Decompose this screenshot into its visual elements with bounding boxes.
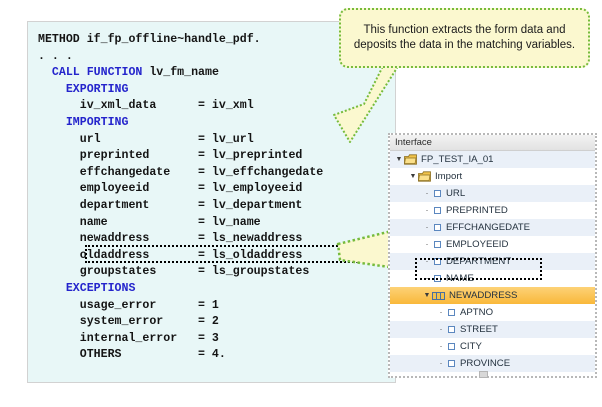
code-line: newaddress = ls_newaddress: [38, 231, 323, 248]
bullet-icon: ·: [436, 325, 446, 334]
field-icon: [434, 207, 441, 214]
tree-body[interactable]: ▼FP_TEST_IA_01▼Import·URL·PREPRINTED·EFF…: [390, 151, 595, 378]
code-line: . . .: [38, 380, 323, 383]
code-keyword: EXCEPTIONS: [38, 282, 135, 295]
tree-node-url[interactable]: ·URL: [390, 185, 595, 202]
tree-node-label: APTNO: [460, 307, 493, 318]
code-text: oldaddress = ls_oldaddress: [38, 249, 302, 262]
code-text: internal_error = 3: [38, 332, 219, 345]
tree-node-street[interactable]: ·STREET: [390, 321, 595, 338]
tree-node-label: CITY: [460, 341, 482, 352]
bullet-icon: ·: [436, 342, 446, 351]
interface-tree-panel[interactable]: Interface ▼FP_TEST_IA_01▼Import·URL·PREP…: [388, 133, 597, 378]
tree-node-city[interactable]: ·CITY: [390, 338, 595, 355]
tree-node-newaddress[interactable]: ▼NEWADDRESS: [390, 287, 595, 304]
bullet-icon: ·: [422, 274, 432, 283]
code-line: . . .: [38, 49, 323, 66]
code-line: system_error = 2: [38, 314, 323, 331]
code-keyword: CALL FUNCTION: [38, 66, 149, 79]
code-text: system_error = 2: [38, 315, 219, 328]
bullet-icon: ·: [422, 206, 432, 215]
code-line: [38, 364, 323, 381]
folder-icon: [418, 171, 431, 182]
code-keyword: IMPORTING: [38, 116, 128, 129]
code-text: OTHERS = 4.: [38, 348, 226, 361]
code-line: OTHERS = 4.: [38, 347, 323, 364]
field-icon: [434, 258, 441, 265]
bullet-icon: ·: [436, 308, 446, 317]
code-text: url = lv_url: [38, 133, 254, 146]
code-text: preprinted = lv_preprinted: [38, 149, 302, 162]
code-line: METHOD if_fp_offline~handle_pdf.: [38, 32, 323, 49]
code-line: CALL FUNCTION lv_fm_name: [38, 65, 323, 82]
code-line: iv_xml_data = iv_xml: [38, 98, 323, 115]
bullet-icon: ·: [436, 376, 446, 378]
tree-node-name[interactable]: ·NAME: [390, 270, 595, 287]
field-icon: [448, 360, 455, 367]
tree-node-label: URL: [446, 188, 465, 199]
code-text: department = lv_department: [38, 199, 302, 212]
code-text: METHOD if_fp_offline~handle_pdf.: [38, 33, 261, 46]
code-line: usage_error = 1: [38, 298, 323, 315]
tree-header-label: Interface: [390, 135, 595, 151]
folder-icon: [404, 154, 417, 165]
tree-node-import[interactable]: ▼Import: [390, 168, 595, 185]
code-line: employeeid = lv_employeeid: [38, 181, 323, 198]
tree-node-label: Import: [435, 171, 462, 182]
bullet-icon: ·: [422, 189, 432, 198]
code-text: lv_fm_name: [149, 66, 219, 79]
bullet-icon: ·: [422, 240, 432, 249]
code-line: effchangedate = lv_effchangedate: [38, 165, 323, 182]
tree-node-employeeid[interactable]: ·EMPLOYEEID: [390, 236, 595, 253]
code-text: iv_xml_data = iv_xml: [38, 99, 254, 112]
code-text: newaddress = ls_newaddress: [38, 232, 302, 245]
tree-node-label: FP_TEST_IA_01: [421, 154, 494, 165]
tree-node-aptno[interactable]: ·APTNO: [390, 304, 595, 321]
field-icon: [434, 241, 441, 248]
code-line: internal_error = 3: [38, 331, 323, 348]
tree-node-label: NEWADDRESS: [449, 290, 517, 301]
bullet-icon: ·: [422, 223, 432, 232]
code-text: . . .: [38, 50, 73, 63]
field-icon: [448, 309, 455, 316]
tree-node-label: PREPRINTED: [446, 205, 508, 216]
tree-node-label: EFFCHANGEDATE: [446, 222, 530, 233]
code-text: . . .: [38, 381, 73, 383]
field-icon: [434, 190, 441, 197]
code-line: preprinted = lv_preprinted: [38, 148, 323, 165]
field-icon: [448, 326, 455, 333]
code-line: EXPORTING: [38, 82, 323, 99]
tree-scrollbar-nub[interactable]: [479, 371, 488, 378]
callout-text: This function extracts the form data and…: [341, 23, 588, 54]
tree-node-department[interactable]: ·DEPARTMENT: [390, 253, 595, 270]
code-line: name = lv_name: [38, 215, 323, 232]
bullet-icon: ·: [436, 359, 446, 368]
field-icon: [448, 343, 455, 350]
field-icon: [434, 224, 441, 231]
structure-icon: [432, 292, 445, 300]
code-line: EXCEPTIONS: [38, 281, 323, 298]
tree-node-label: NAME: [446, 273, 474, 284]
tree-node-label: PROVINCE: [460, 358, 510, 369]
code-text: effchangedate = lv_effchangedate: [38, 166, 323, 179]
callout-bubble: This function extracts the form data and…: [339, 8, 590, 68]
code-text: groupstates = ls_groupstates: [38, 265, 309, 278]
field-icon: [434, 275, 441, 282]
code-text: employeeid = lv_employeeid: [38, 182, 302, 195]
tree-node-label: DEPARTMENT: [446, 256, 511, 267]
chevron-down-icon[interactable]: ▼: [408, 173, 418, 180]
code-listing: METHOD if_fp_offline~handle_pdf.. . . CA…: [38, 32, 323, 383]
chevron-down-icon[interactable]: ▼: [422, 292, 432, 299]
tree-node-label: POSTALCODE: [460, 375, 525, 378]
tree-node-fp_test_ia_01[interactable]: ▼FP_TEST_IA_01: [390, 151, 595, 168]
code-line: groupstates = ls_groupstates: [38, 264, 323, 281]
code-line: url = lv_url: [38, 132, 323, 149]
tree-node-preprinted[interactable]: ·PREPRINTED: [390, 202, 595, 219]
bullet-icon: ·: [422, 257, 432, 266]
tree-node-effchangedate[interactable]: ·EFFCHANGEDATE: [390, 219, 595, 236]
code-line: oldaddress = ls_oldaddress: [38, 248, 323, 265]
code-line: IMPORTING: [38, 115, 323, 132]
tree-node-postalcode[interactable]: ·POSTALCODE: [390, 372, 595, 378]
code-line: department = lv_department: [38, 198, 323, 215]
chevron-down-icon[interactable]: ▼: [394, 156, 404, 163]
field-icon: [448, 377, 455, 378]
tree-node-province[interactable]: ·PROVINCE: [390, 355, 595, 372]
tree-node-label: STREET: [460, 324, 498, 335]
code-text: usage_error = 1: [38, 299, 219, 312]
code-keyword: EXPORTING: [38, 83, 128, 96]
tree-node-label: EMPLOYEEID: [446, 239, 508, 250]
code-text: name = lv_name: [38, 216, 261, 229]
